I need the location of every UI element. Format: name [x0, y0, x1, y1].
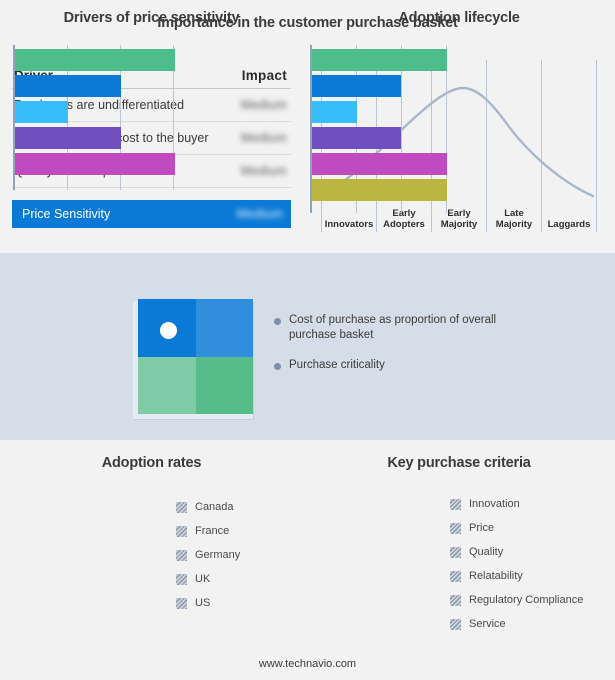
legend-item: Purchase criticality — [274, 358, 574, 373]
hatched-square-icon — [176, 502, 187, 513]
legend-label: US — [195, 597, 210, 609]
legend-label: Cost of purchase as proportion of overal… — [289, 313, 504, 343]
bar-price — [312, 75, 401, 97]
legend-item: Regulatory Compliance — [450, 588, 583, 612]
segment-label-line2: Laggards — [548, 219, 591, 230]
matrix-quadrant-top-right — [196, 299, 254, 357]
driver-impact: Medium — [241, 98, 287, 112]
importance-matrix — [138, 299, 253, 414]
legend-item: UK — [176, 567, 240, 591]
legend-item: Service — [450, 612, 583, 636]
hatched-square-icon — [450, 499, 461, 510]
legend-label: Purchase criticality — [289, 358, 385, 373]
key-purchase-criteria-legend: Innovation Price Quality Relatability Re… — [450, 492, 583, 636]
basket-title: Importance in the customer purchase bask… — [0, 15, 615, 31]
legend-label: Canada — [195, 501, 234, 513]
bar-quality — [312, 101, 357, 123]
legend-label: Germany — [195, 549, 240, 561]
footer-url: www.technavio.com — [0, 658, 615, 670]
legend-item: Relatability — [450, 564, 583, 588]
segment-label-line1: Early — [447, 208, 470, 219]
key-purchase-criteria-title: Key purchase criteria — [303, 455, 615, 471]
bar-france — [15, 75, 121, 97]
bullet-dot-icon — [274, 318, 281, 325]
adoption-rates-plot — [13, 45, 175, 190]
segment-label-line2: Adopters — [383, 219, 425, 230]
adoption-rates-bars — [15, 45, 175, 190]
driver-impact: Medium — [237, 207, 283, 221]
legend-label: Regulatory Compliance — [469, 594, 583, 606]
hatched-square-icon — [176, 574, 187, 585]
lifecycle-segment: Late Majority — [486, 198, 541, 232]
bar-service — [312, 179, 447, 201]
adoption-rates-panel: Adoption rates — [0, 440, 303, 665]
bar-canada — [15, 49, 175, 71]
bar-innovation — [312, 49, 447, 71]
bar-uk — [15, 127, 121, 149]
driver-impact: Medium — [241, 164, 287, 178]
legend-item: France — [176, 519, 240, 543]
segment-label-line2: Majority — [496, 219, 532, 230]
bullet-dot-icon — [274, 363, 281, 370]
basket-legend: Cost of purchase as proportion of overal… — [274, 313, 574, 388]
legend-label: France — [195, 525, 229, 537]
bar-relatability — [312, 127, 401, 149]
legend-label: Service — [469, 618, 506, 630]
driver-impact: Medium — [241, 131, 287, 145]
matrix-quadrant-bottom-right — [196, 357, 254, 415]
lifecycle-segment: Laggards — [541, 198, 597, 232]
legend-label: UK — [195, 573, 210, 585]
legend-item: Canada — [176, 495, 240, 519]
bar-regulatory-compliance — [312, 153, 447, 175]
legend-item: US — [176, 591, 240, 615]
bar-germany — [15, 101, 68, 123]
legend-item: Germany — [176, 543, 240, 567]
hatched-square-icon — [450, 571, 461, 582]
segment-label-line2: Innovators — [325, 219, 374, 230]
key-purchase-criteria-bars — [312, 45, 447, 213]
legend-label: Quality — [469, 546, 503, 558]
hatched-square-icon — [450, 547, 461, 558]
hatched-square-icon — [176, 598, 187, 609]
position-marker-dot — [160, 322, 177, 339]
segment-label-line1: Late — [504, 208, 524, 219]
bar-us — [15, 153, 175, 175]
table-row-highlighted: Price Sensitivity Medium — [12, 200, 291, 228]
legend-item: Innovation — [450, 492, 583, 516]
adoption-rates-title: Adoption rates — [0, 455, 303, 471]
legend-label: Innovation — [469, 498, 520, 510]
hatched-square-icon — [450, 523, 461, 534]
segment-label-line2: Majority — [441, 219, 477, 230]
legend-item: Cost of purchase as proportion of overal… — [274, 313, 574, 343]
key-purchase-criteria-plot — [310, 45, 447, 213]
column-header-impact: Impact — [242, 68, 287, 83]
adoption-rates-legend: Canada France Germany UK US — [176, 495, 240, 615]
matrix-quadrant-bottom-left — [138, 357, 196, 415]
hatched-square-icon — [176, 526, 187, 537]
legend-item: Price — [450, 516, 583, 540]
legend-label: Price — [469, 522, 494, 534]
legend-label: Relatability — [469, 570, 523, 582]
hatched-square-icon — [176, 550, 187, 561]
legend-item: Quality — [450, 540, 583, 564]
matrix-quadrant-top-left — [138, 299, 196, 357]
driver-name: Price Sensitivity — [22, 207, 110, 221]
hatched-square-icon — [450, 595, 461, 606]
hatched-square-icon — [450, 619, 461, 630]
